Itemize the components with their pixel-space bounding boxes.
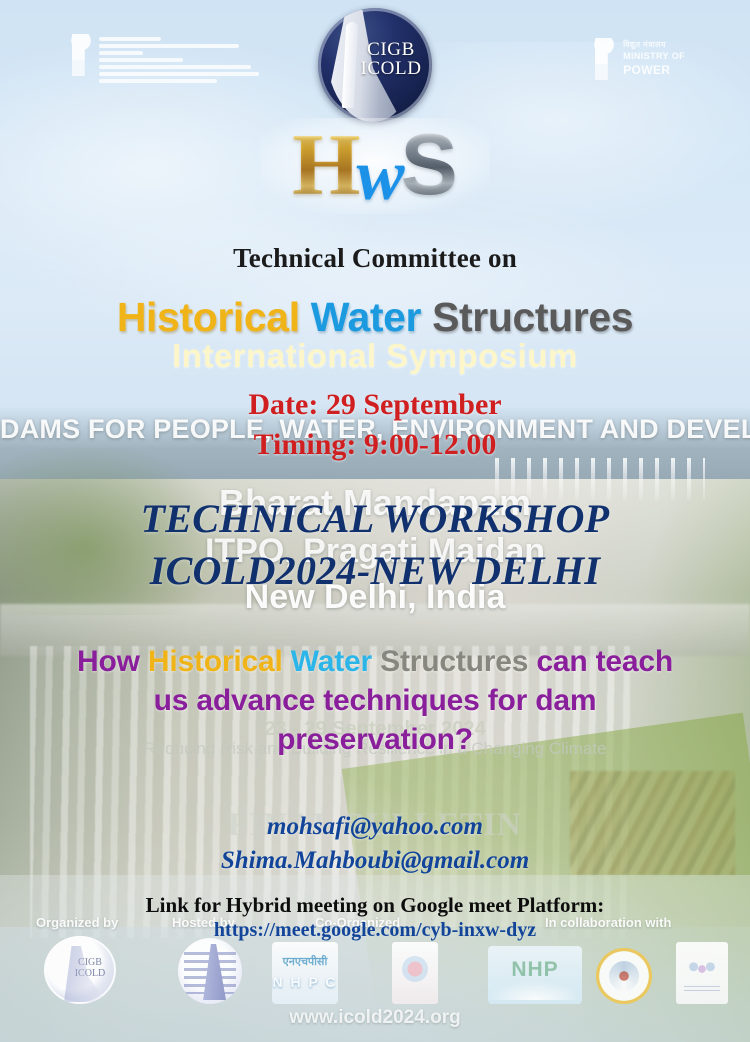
- partner-logo-white: [676, 942, 728, 1004]
- question-line3: preservation?: [0, 720, 750, 759]
- icold-logo-line1: CIGB: [358, 40, 424, 59]
- event-poster: International Symposium DAMS FOR PEOPLE,…: [0, 0, 750, 1042]
- ministry-of-power-text: विद्युत मंत्रालय MINISTRY OF POWER: [623, 38, 685, 78]
- question-suffix: can teach: [528, 645, 673, 678]
- question-space1: [283, 645, 291, 678]
- partner-logo-cwc: [178, 938, 242, 1004]
- partner-logo-strip: CIGB ICOLD एनएचपीसी N H P C NHP: [0, 934, 750, 1004]
- question-line1: How Historical Water Structures can teac…: [0, 642, 750, 681]
- hws-logo-letters: H w S: [292, 125, 458, 208]
- title-word-structures: Structures: [432, 294, 633, 340]
- page-title: Historical Water Structures: [0, 294, 750, 341]
- hws-logo: H w S: [260, 118, 490, 214]
- hws-letter-h: H: [292, 126, 360, 205]
- workshop-title: TECHNICAL WORKSHOP ICOLD2024-NEW DELHI: [0, 493, 750, 597]
- ministry-hindi-label: विद्युत मंत्रालय: [623, 40, 685, 50]
- event-date: Date: 29 September: [0, 385, 750, 425]
- partner-nhpc-latin: N H P C: [272, 974, 338, 990]
- icold-logo-text: CIGB ICOLD: [358, 40, 424, 79]
- ministry-line1: MINISTRY OF: [623, 51, 685, 62]
- partner-logo-nhp: NHP: [488, 946, 582, 1004]
- title-word-water: Water: [311, 294, 421, 340]
- partner-nhpc-hindi: एनएचपीसी: [272, 954, 338, 969]
- partner-icold-line2: ICOLD: [70, 969, 110, 980]
- contact-emails: mohsafi@yahoo.com Shima.Mahboubi@gmail.c…: [0, 810, 750, 878]
- question-space2: [372, 645, 380, 678]
- question-prefix: How: [77, 645, 148, 678]
- contact-email-2[interactable]: Shima.Mahboubi@gmail.com: [0, 844, 750, 878]
- workshop-line2: ICOLD2024-NEW DELHI: [0, 545, 750, 597]
- workshop-line1: TECHNICAL WORKSHOP: [0, 493, 750, 545]
- hws-letter-w: w: [357, 143, 405, 208]
- committee-prefix: Technical Committee on: [0, 243, 750, 274]
- ashoka-pillar-icon: [70, 34, 92, 76]
- workshop-question: How Historical Water Structures can teac…: [0, 642, 750, 759]
- emblem-text-lines: [99, 34, 259, 83]
- partner-logo-nhpc: एनएचपीसी N H P C: [272, 942, 338, 1004]
- government-of-india-emblem: [70, 34, 259, 83]
- question-word-historical: Historical: [148, 645, 283, 678]
- icold-logo-line2: ICOLD: [358, 59, 424, 78]
- partner-icold-line1: CIGB: [70, 958, 110, 969]
- partner-logo-icold: CIGB ICOLD: [44, 936, 116, 1004]
- event-timing: Timing: 9:00-12.00: [0, 425, 750, 465]
- question-line2: us advance techniques for dam: [0, 681, 750, 720]
- contact-email-1[interactable]: mohsafi@yahoo.com: [0, 810, 750, 844]
- schedule-block: Date: 29 September Timing: 9:00-12.00: [0, 385, 750, 464]
- hws-letter-s: S: [401, 127, 458, 204]
- ministry-line2: POWER: [623, 63, 685, 78]
- partner-icold-text: CIGB ICOLD: [70, 958, 110, 979]
- question-word-water: Water: [291, 645, 372, 678]
- cigb-icold-logo: CIGB ICOLD: [318, 8, 432, 122]
- partner-logo-ntpc: [392, 942, 438, 1004]
- partner-logo-gold-seal: [596, 948, 652, 1004]
- ministry-of-power-emblem: विद्युत मंत्रालय MINISTRY OF POWER: [593, 38, 685, 80]
- hybrid-meeting-label: Link for Hybrid meeting on Google meet P…: [0, 893, 750, 918]
- title-word-historical: Historical: [117, 294, 300, 340]
- ashoka-pillar-icon-power: [593, 38, 615, 80]
- partner-nhp-text: NHP: [488, 958, 582, 982]
- question-word-structures: Structures: [380, 645, 528, 678]
